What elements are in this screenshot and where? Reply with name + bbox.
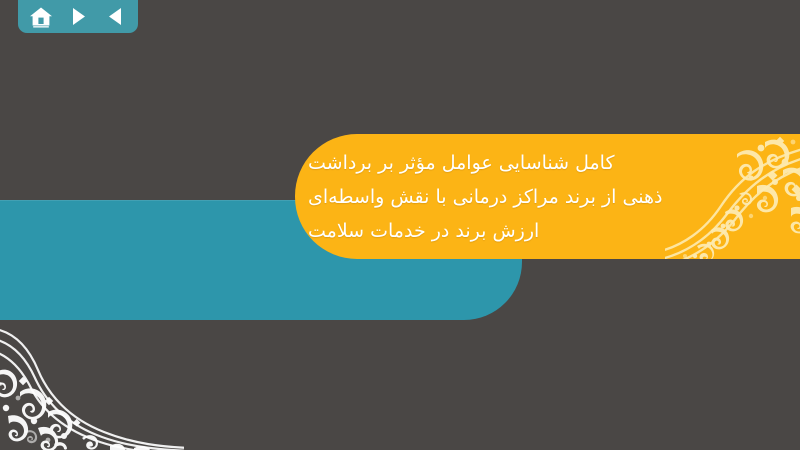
- slide-title: کامل شناسایی عوامل مؤثر بر برداشت ذهنی ا…: [300, 136, 790, 258]
- home-button[interactable]: [28, 4, 54, 30]
- title-line-1: کامل شناسایی عوامل مؤثر بر برداشت: [308, 146, 615, 180]
- previous-slide-button[interactable]: [102, 4, 128, 30]
- triangle-right-icon: [70, 7, 87, 26]
- home-icon: [29, 6, 53, 28]
- title-line-2: ذهنی از برند مراکز درمانی با نقش واسطه‌ا…: [308, 180, 663, 214]
- title-line-3: ارزش برند در خدمات سلامت: [308, 214, 539, 248]
- presentation-slide: کامل شناسایی عوامل مؤثر بر برداشت ذهنی ا…: [0, 0, 800, 450]
- slide-navigation-bar: [18, 0, 138, 33]
- teal-arabesque-ornament-icon: [0, 320, 184, 450]
- triangle-left-icon: [107, 7, 124, 26]
- next-slide-button[interactable]: [65, 4, 91, 30]
